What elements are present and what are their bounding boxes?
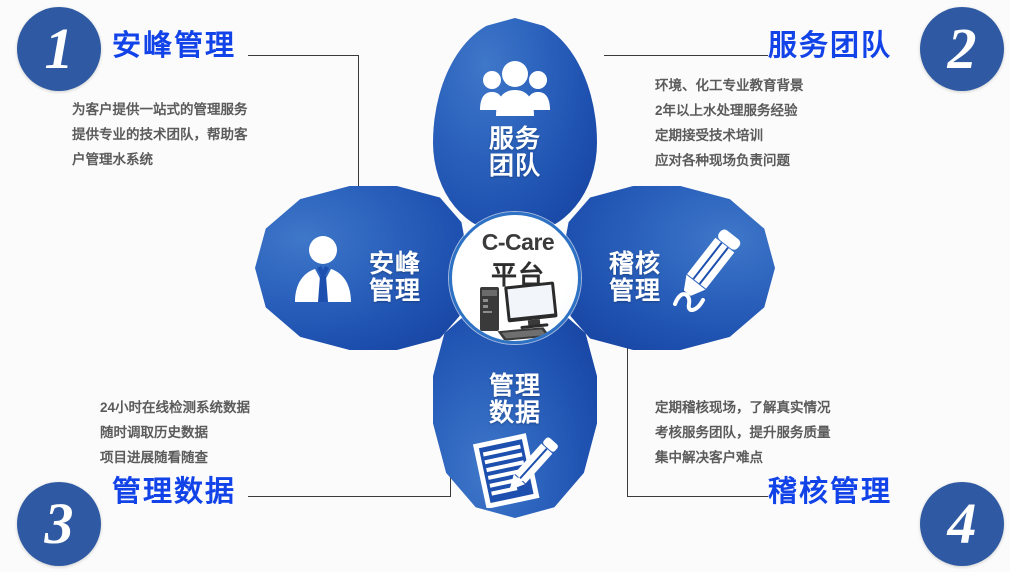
quadrant-title-1: 安峰管理 xyxy=(112,22,236,64)
hub-title: C-Care xyxy=(452,229,581,256)
text-line: 为客户提供一站式的管理服务 xyxy=(72,97,248,122)
text-line: 项目进展随看随查 xyxy=(100,445,250,470)
number-badge-4: 4 xyxy=(920,482,1004,566)
quadrant-body-3: 24小时在线检测系统数据随时调取历史数据项目进展随看随查 xyxy=(100,395,250,470)
quadrant-title-2: 服务团队 xyxy=(768,22,892,64)
petal-label-anfeng-management: 安峰 管理 xyxy=(345,251,445,305)
petal-label-audit-management: 稽核 管理 xyxy=(585,251,685,305)
quadrant-body-1: 为客户提供一站式的管理服务提供专业的技术团队，帮助客户管理水系统 xyxy=(72,97,248,172)
people-group-icon xyxy=(479,60,551,118)
text-line: 户管理水系统 xyxy=(72,147,248,172)
petal-label-service-team: 服务 团队 xyxy=(433,126,597,180)
desktop-computer-icon xyxy=(478,281,562,341)
number-badge-1: 1 xyxy=(17,7,101,91)
text-line: 24小时在线检测系统数据 xyxy=(100,395,250,420)
infographic-canvas: 1 2 3 4 安峰管理 服务团队 管理数据 稽核管理 为客户提供一站式的管理服… xyxy=(0,0,1010,572)
number-badge-3: 3 xyxy=(17,482,101,566)
center-hub[interactable]: C-Care 平台 xyxy=(449,212,581,344)
petal-label-management-data: 管理 数据 xyxy=(433,373,597,427)
number-badge-2: 2 xyxy=(920,7,1004,91)
text-line: 随时调取历史数据 xyxy=(100,420,250,445)
quadrant-title-4: 稽核管理 xyxy=(768,468,892,510)
four-petal-diagram: 服务 团队 安峰 管理 稽核 管理 管理 数据 C-Care 平台 xyxy=(255,18,775,518)
text-line: 提供专业的技术团队，帮助客 xyxy=(72,122,248,147)
clipboard-pen-icon xyxy=(473,430,559,508)
quadrant-title-3: 管理数据 xyxy=(112,468,236,510)
